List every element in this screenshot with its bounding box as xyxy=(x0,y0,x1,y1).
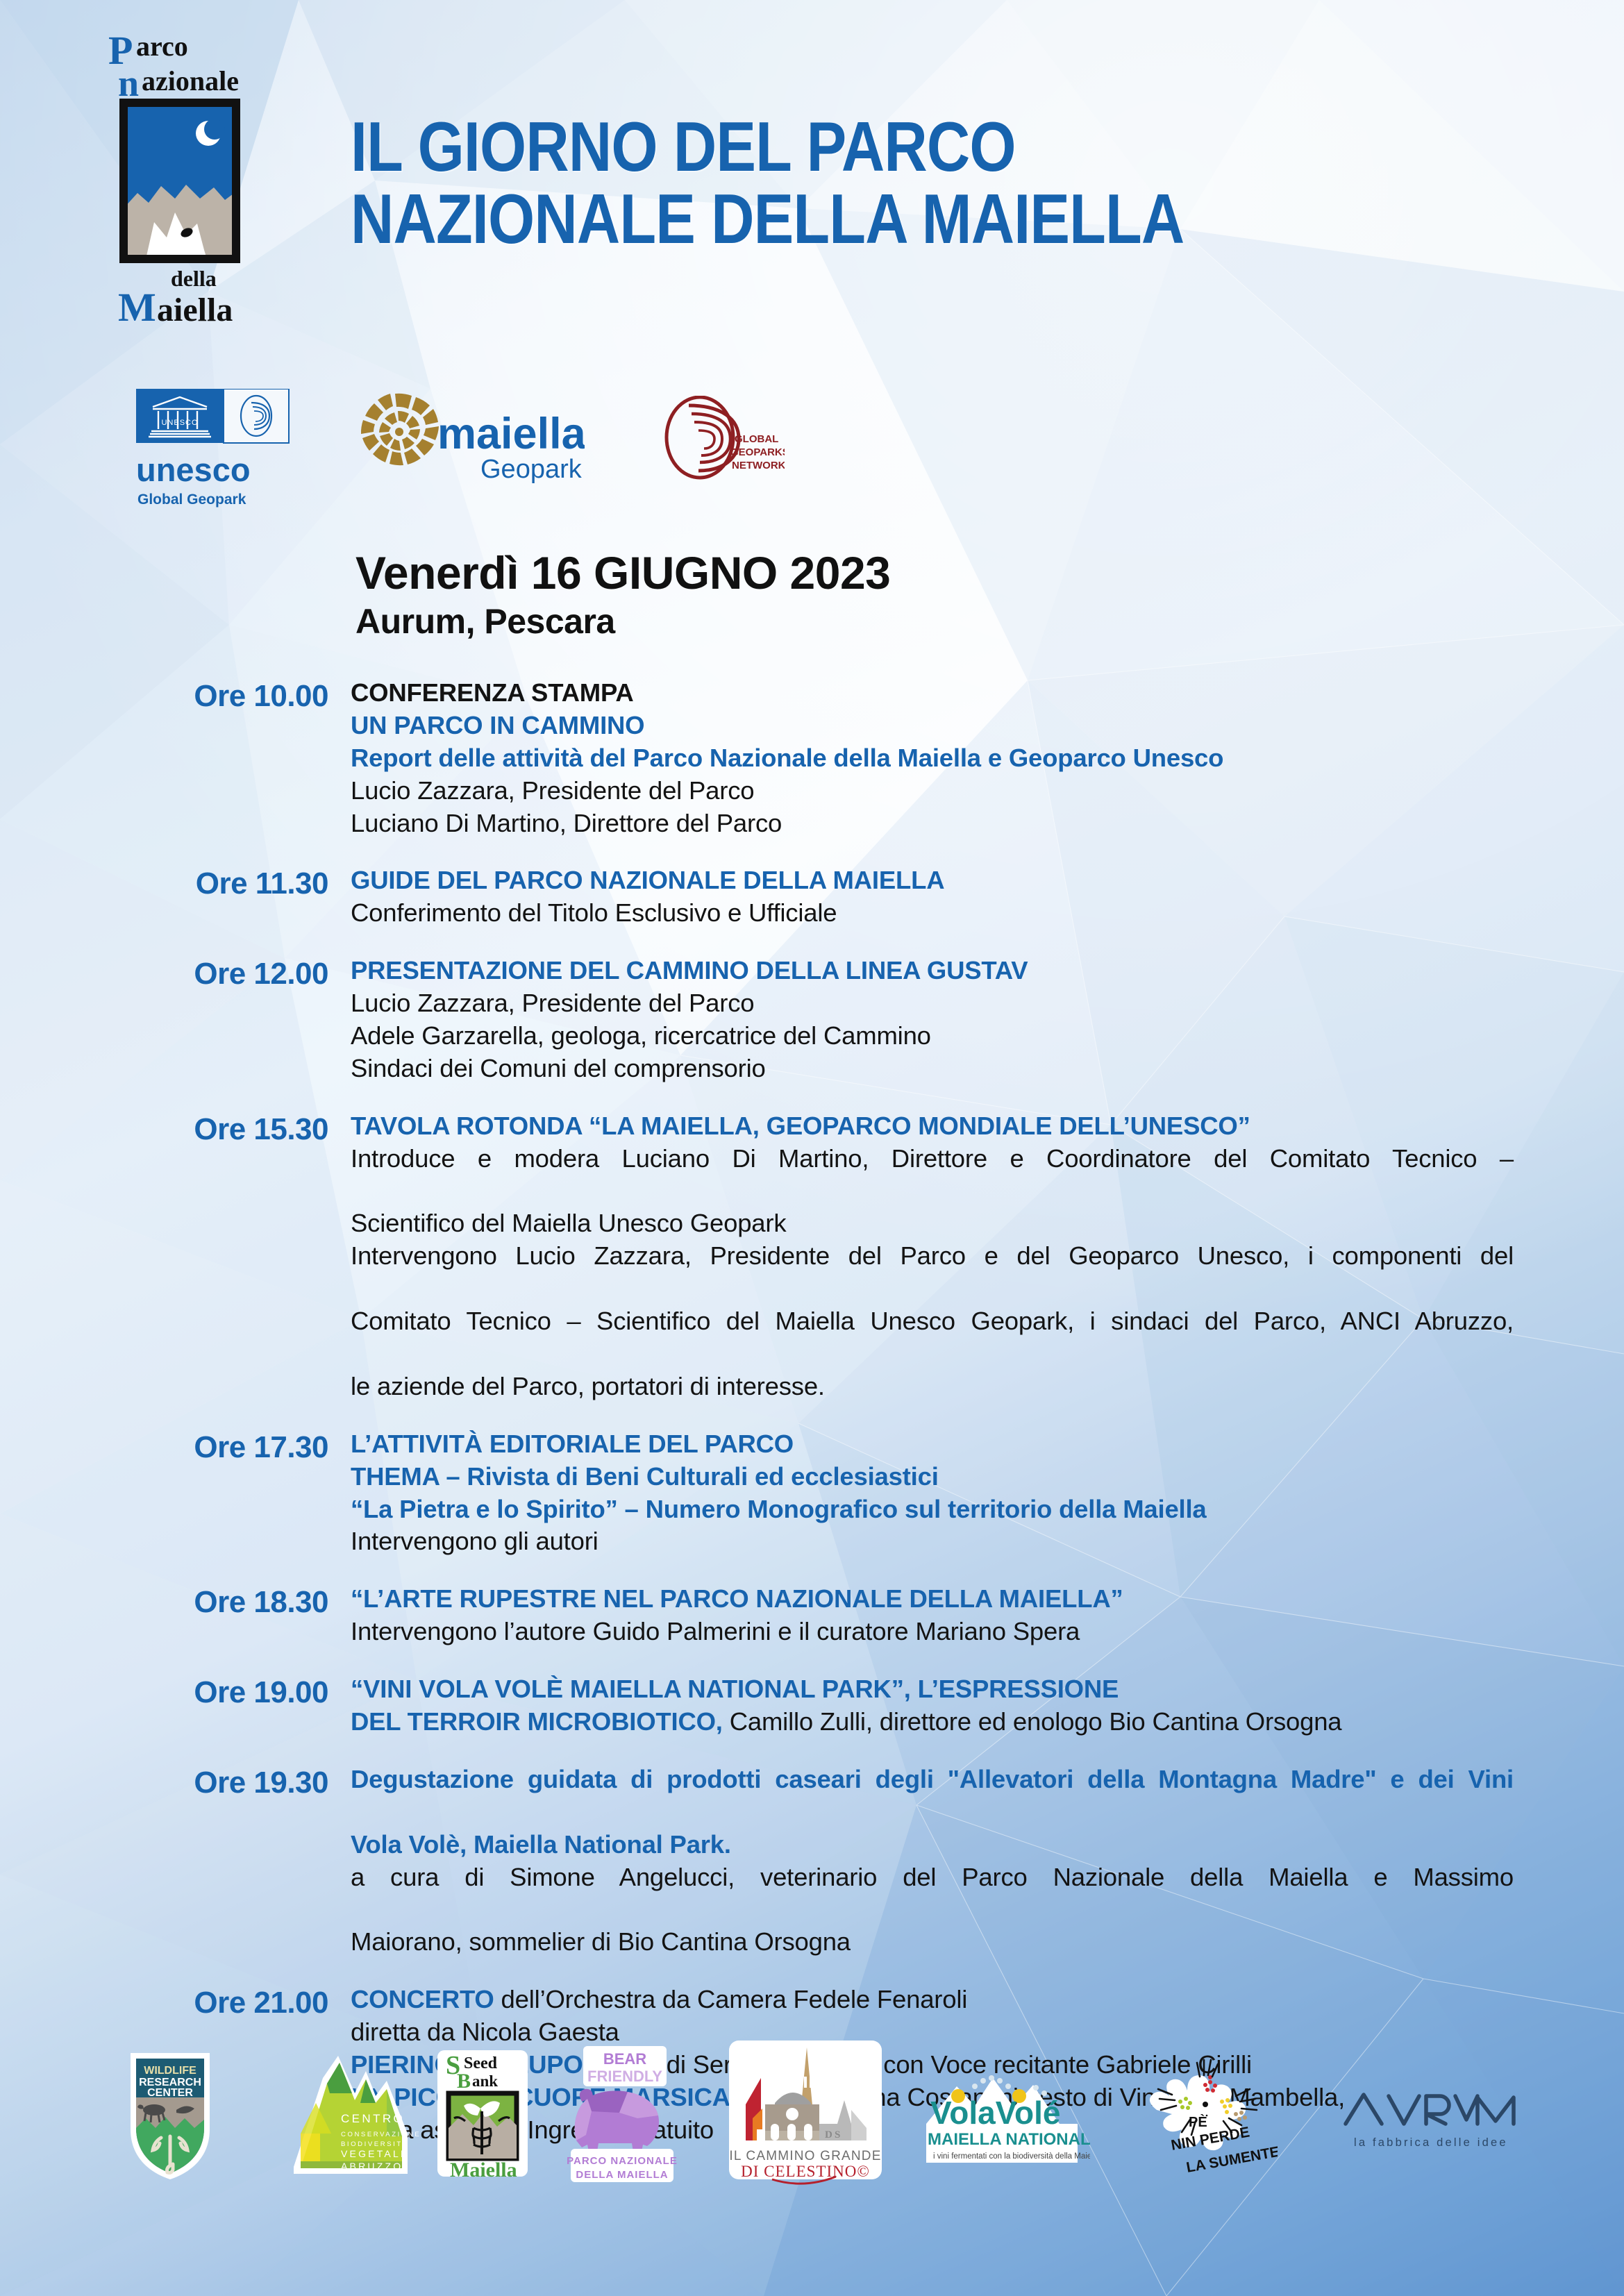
schedule-line: Conferimento del Titolo Esclusivo e Uffi… xyxy=(351,897,1514,930)
schedule-body: “VINI VOLA VOLÈ MAIELLA NATIONAL PARK”, … xyxy=(351,1673,1514,1738)
schedule-time: Ore 19.30 xyxy=(104,1763,351,1959)
wildlife-research-center-logo: WILDLIFE RESEARCH CENTER xyxy=(118,2046,222,2188)
schedule-body: “L’ARTE RUPESTRE NEL PARCO NAZIONALE DEL… xyxy=(351,1583,1514,1648)
schedule-line: Intervengono gli autori xyxy=(351,1525,1514,1558)
centro-line4: VEGETALE xyxy=(341,2148,409,2159)
maiella-geopark-line2: Geopark xyxy=(480,455,583,484)
unesco-emblem-text: UNESCO xyxy=(161,419,198,427)
schedule-line: Intervengono Lucio Zazzara, Presidente d… xyxy=(351,1240,1514,1305)
schedule-line: a cura di Simone Angelucci, veterinario … xyxy=(351,1861,1514,1927)
schedule-time: Ore 18.30 xyxy=(104,1583,351,1648)
ggn-line3: NETWORK xyxy=(732,460,785,471)
logo-word-aiella: aiella xyxy=(157,292,233,328)
cammino-celestino-logo: DS IL CAMMINO GRANDE DI CELESTINO© xyxy=(722,2036,889,2189)
schedule-row: Ore 11.30GUIDE DEL PARCO NAZIONALE DELLA… xyxy=(104,864,1514,930)
centro-line2: CONSERVAZIONE xyxy=(341,2131,420,2138)
schedule-row: Ore 15.30TAVOLA ROTONDA “LA MAIELLA, GEO… xyxy=(104,1110,1514,1403)
schedule-row: Ore 10.00CONFERENZA STAMPAUN PARCO IN CA… xyxy=(104,677,1514,839)
parco-nazionale-maiella-logo: P arco n azionale della M aiella xyxy=(103,21,311,358)
schedule-line: Sindaci dei Comuni del comprensorio xyxy=(351,1053,1514,1085)
logo-letter-n: n xyxy=(118,62,139,104)
logo-word-arco: arco xyxy=(136,31,188,62)
aurum-tagline: la fabbrica delle idee xyxy=(1354,2136,1508,2149)
schedule-line: le aziende del Parco, portatori di inter… xyxy=(351,1371,1514,1403)
schedule-time: Ore 12.00 xyxy=(104,955,351,1085)
schedule-line: GUIDE DEL PARCO NAZIONALE DELLA MAIELLA xyxy=(351,864,1514,897)
schedule-row: Ore 19.00“VINI VOLA VOLÈ MAIELLA NATIONA… xyxy=(104,1673,1514,1738)
logo-word-azionale: azionale xyxy=(142,65,239,97)
maiella-geopark-logo: maiella Geopark xyxy=(355,389,585,496)
schedule-body: PRESENTAZIONE DEL CAMMINO DELLA LINEA GU… xyxy=(351,955,1514,1085)
schedule-line: Vola Volè, Maiella National Park. xyxy=(351,1829,1514,1861)
bear-line1: BEAR xyxy=(603,2050,646,2068)
schedule-line: Luciano Di Martino, Direttore del Parco xyxy=(351,807,1514,840)
sumente-line1: PÈ xyxy=(1189,2114,1207,2130)
event-date-block: Venerdì 16 GIUGNO 2023 Aurum, Pescara xyxy=(355,548,1189,642)
wrc-line3: CENTER xyxy=(147,2087,193,2099)
schedule-line: TAVOLA ROTONDA “LA MAIELLA, GEOPARCO MON… xyxy=(351,1110,1514,1143)
seed-bank-maiella-logo: S Seed B ank Maiella xyxy=(430,2045,535,2187)
poster-canvas: P arco n azionale della M aiella xyxy=(0,0,1624,2296)
volavole-line2: MAIELLA NATIONAL PARK xyxy=(928,2130,1090,2149)
seedbank-word-maiella: Maiella xyxy=(450,2159,517,2181)
schedule-line: Lucio Zazzara, Presidente del Parco xyxy=(351,987,1514,1020)
schedule-line: UN PARCO IN CAMMINO xyxy=(351,710,1514,742)
centro-biodiversita-logo: CENTRO CONSERVAZIONE BIODIVERSITÀ VEGETA… xyxy=(288,2050,420,2189)
ggn-line2: GEOPARKS xyxy=(730,446,785,458)
schedule-line: “L’ARTE RUPESTRE NEL PARCO NAZIONALE DEL… xyxy=(351,1583,1514,1616)
title-line-2: NAZIONALE DELLA MAIELLA xyxy=(351,183,1241,255)
logo-letter-m: M xyxy=(118,285,156,330)
schedule-line: Comitato Tecnico – Scientifico del Maiel… xyxy=(351,1305,1514,1371)
partner-logos-row: WILDLIFE RESEARCH CENTER CENTRO CONSERVA… xyxy=(0,2031,1624,2253)
celestino-line1: IL CAMMINO GRANDE xyxy=(729,2149,881,2163)
ggn-line1: GLOBAL xyxy=(735,433,778,445)
schedule-line: Maiorano, sommelier di Bio Cantina Orsog… xyxy=(351,1926,1514,1959)
unesco-wordmark: unesco xyxy=(136,451,251,488)
schedule-line: Introduce e modera Luciano Di Martino, D… xyxy=(351,1143,1514,1208)
schedule-line: CONCERTO dell’Orchestra da Camera Fedele… xyxy=(351,1984,1514,2016)
svg-text:D: D xyxy=(825,2129,832,2140)
vola-vole-logo: VolaVolé MAIELLA NATIONAL PARK i vini fe… xyxy=(916,2057,1090,2175)
aurum-logo: la fabbrica delle idee xyxy=(1340,2085,1521,2158)
schedule-line: Intervengono l’autore Guido Palmerini e … xyxy=(351,1616,1514,1648)
schedule-line: Adele Garzarella, geologa, ricercatrice … xyxy=(351,1020,1514,1053)
centro-line3: BIODIVERSITÀ xyxy=(341,2140,409,2148)
schedule-time: Ore 17.30 xyxy=(104,1428,351,1559)
schedule-line: Lucio Zazzara, Presidente del Parco xyxy=(351,775,1514,807)
celestino-line2: DI CELESTINO© xyxy=(741,2163,870,2180)
svg-text:S: S xyxy=(835,2129,840,2140)
unesco-global-geopark-logo: UNESCO unesco Global Geopark xyxy=(136,389,303,517)
schedule-line: DEL TERROIR MICROBIOTICO, Camillo Zulli,… xyxy=(351,1706,1514,1738)
unesco-subtitle: Global Geopark xyxy=(137,492,246,508)
schedule-line: “VINI VOLA VOLÈ MAIELLA NATIONAL PARK”, … xyxy=(351,1673,1514,1706)
seedbank-letter-b: B xyxy=(457,2070,471,2093)
maiella-geopark-line1: maiella xyxy=(437,410,585,458)
bear-line3: PARCO NAZIONALE xyxy=(567,2155,678,2167)
schedule-body: GUIDE DEL PARCO NAZIONALE DELLA MAIELLAC… xyxy=(351,864,1514,930)
pe-nin-perde-la-sumente-logo: PÈ NIN PERDE LA SUMENTE xyxy=(1139,2046,1278,2185)
centro-line1: CENTRO xyxy=(341,2112,405,2125)
global-geoparks-network-logo: GLOBAL GEOPARKS NETWORK xyxy=(646,396,785,489)
title-line-1: IL GIORNO DEL PARCO xyxy=(351,111,1241,183)
schedule-body: Degustazione guidata di prodotti caseari… xyxy=(351,1763,1514,1959)
bear-line2: FRIENDLY xyxy=(587,2068,662,2085)
schedule-row: Ore 19.30Degustazione guidata di prodott… xyxy=(104,1763,1514,1959)
schedule-line: PRESENTAZIONE DEL CAMMINO DELLA LINEA GU… xyxy=(351,955,1514,987)
schedule-row: Ore 17.30L’ATTIVITÀ EDITORIALE DEL PARCO… xyxy=(104,1428,1514,1559)
schedule-row: Ore 18.30“L’ARTE RUPESTRE NEL PARCO NAZI… xyxy=(104,1583,1514,1648)
volavole-line3: i vini fermentati con la biodiversità de… xyxy=(933,2152,1090,2161)
schedule-line: L’ATTIVITÀ EDITORIALE DEL PARCO xyxy=(351,1428,1514,1461)
schedule-line: “La Pietra e lo Spirito” – Numero Monogr… xyxy=(351,1493,1514,1526)
wrc-line1: WILDLIFE xyxy=(144,2065,196,2077)
bear-line4: DELLA MAIELLA xyxy=(576,2169,668,2181)
centro-line5: ABRUZZO xyxy=(341,2161,403,2172)
schedule-row: Ore 12.00PRESENTAZIONE DEL CAMMINO DELLA… xyxy=(104,955,1514,1085)
logo-word-della: della xyxy=(171,266,217,291)
schedule-line: Degustazione guidata di prodotti caseari… xyxy=(351,1763,1514,1829)
seedbank-word-ank: ank xyxy=(472,2072,498,2090)
schedule-line: Report delle attività del Parco Nazional… xyxy=(351,742,1514,775)
schedule-line: Scientifico del Maiella Unesco Geopark xyxy=(351,1207,1514,1240)
bear-friendly-logo: BEAR FRIENDLY PARCO NAZIONALE DELLA MAIE… xyxy=(555,2043,687,2189)
schedule-time: Ore 15.30 xyxy=(104,1110,351,1403)
page-title: IL GIORNO DEL PARCO NAZIONALE DELLA MAIE… xyxy=(351,111,1392,255)
ammonite-spiral-icon xyxy=(361,394,439,465)
schedule-line: THEMA – Rivista di Beni Culturali ed ecc… xyxy=(351,1461,1514,1493)
schedule-time: Ore 10.00 xyxy=(104,677,351,839)
schedule-body: TAVOLA ROTONDA “LA MAIELLA, GEOPARCO MON… xyxy=(351,1110,1514,1403)
schedule-time: Ore 11.30 xyxy=(104,864,351,930)
schedule-list: Ore 10.00CONFERENZA STAMPAUN PARCO IN CA… xyxy=(104,677,1514,2172)
schedule-line: CONFERENZA STAMPA xyxy=(351,677,1514,710)
schedule-body: L’ATTIVITÀ EDITORIALE DEL PARCOTHEMA – R… xyxy=(351,1428,1514,1559)
volavole-line1: VolaVolé xyxy=(930,2095,1060,2131)
event-venue: Aurum, Pescara xyxy=(355,601,1189,642)
event-date: Venerdì 16 GIUGNO 2023 xyxy=(355,548,1189,598)
schedule-body: CONFERENZA STAMPAUN PARCO IN CAMMINORepo… xyxy=(351,677,1514,839)
schedule-time: Ore 19.00 xyxy=(104,1673,351,1738)
